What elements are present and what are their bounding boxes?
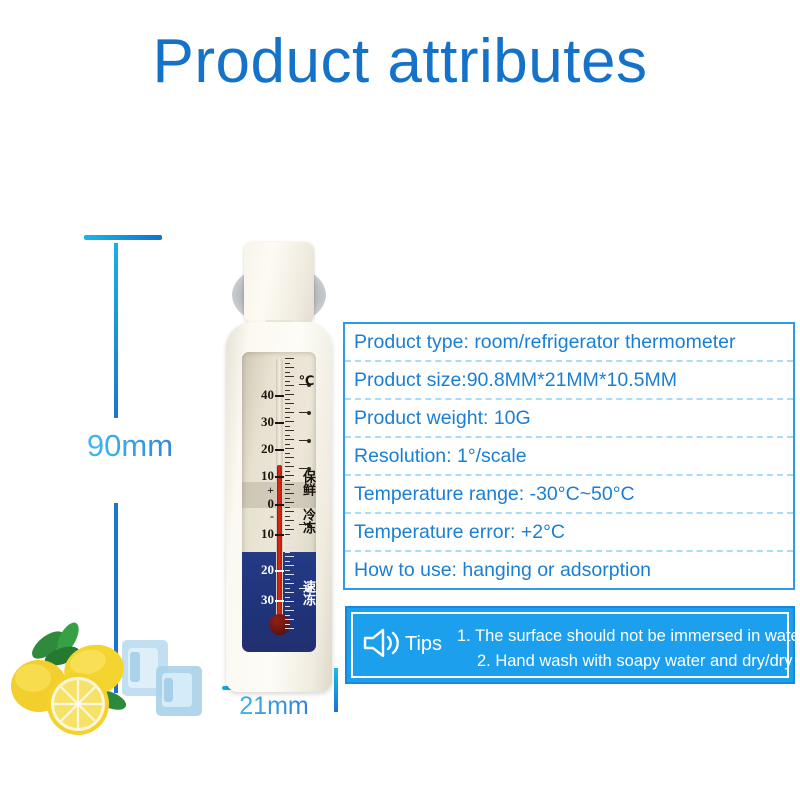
scale-major-tick <box>275 534 284 536</box>
spec-row-product-size: Product size:90.8MM*21MM*10.5MM <box>345 362 793 400</box>
scale-dot-tick-column <box>299 352 311 652</box>
spec-row-product-weight: Product weight: 10G <box>345 400 793 438</box>
scale-number: + <box>267 484 274 496</box>
zone-label-fresh: 保鲜 <box>301 470 314 496</box>
scale-major-tick <box>275 570 284 572</box>
ice-cubes <box>122 640 202 716</box>
spec-row-how-to-use: How to use: hanging or adsorption <box>345 552 793 588</box>
lemon-ice-decoration <box>4 608 216 738</box>
scale-number-column: 40302010+0-102030 <box>244 352 274 652</box>
scale-ruler-ticks <box>285 358 296 630</box>
height-dimension-label: 90mm <box>62 428 198 464</box>
zone-label-frozen: 冷冻 <box>301 508 314 534</box>
infographic-page: Product attributes 90mm 21mm 4 <box>0 0 800 800</box>
tips-box: Tips 1. The surface should not be immers… <box>345 606 795 684</box>
scale-major-tick <box>275 422 284 424</box>
tips-inner-frame: Tips 1. The surface should not be immers… <box>351 612 789 678</box>
tips-line-2: 2. Hand wash with soapy water and dry/dr… <box>477 652 800 671</box>
scale-number: 10 <box>261 469 274 482</box>
scale-major-tick <box>275 395 284 397</box>
lemon-half <box>47 673 109 735</box>
scale-number: 30 <box>261 593 274 606</box>
product-thermometer-image: 40302010+0-102030 ℃ 保鲜 冷冻 速冻 <box>218 236 340 698</box>
specification-list: Product type: room/refrigerator thermome… <box>343 322 795 590</box>
scale-number: 40 <box>261 388 274 401</box>
zone-label-quickfreeze: 速冻 <box>301 580 314 606</box>
scale-number: 10 <box>261 527 274 540</box>
scale-major-tick <box>275 600 284 602</box>
page-title: Product attributes <box>0 26 800 97</box>
thermometer-scale-face: 40302010+0-102030 ℃ 保鲜 冷冻 速冻 <box>242 352 316 652</box>
scale-number: 20 <box>261 563 274 576</box>
degree-celsius-symbol: ℃ <box>300 374 313 389</box>
dimension-line-upper <box>114 243 118 418</box>
scale-major-tick <box>275 449 284 451</box>
spec-row-temperature-error: Temperature error: +2°C <box>345 514 793 552</box>
scale-number: - <box>270 510 274 522</box>
scale-number: 20 <box>261 442 274 455</box>
scale-major-tick <box>275 476 284 478</box>
spec-row-temperature-range: Temperature range: -30°C~50°C <box>345 476 793 514</box>
spec-row-product-type: Product type: room/refrigerator thermome… <box>345 324 793 362</box>
hanging-clip <box>244 242 314 322</box>
speaker-icon <box>362 628 404 658</box>
dimension-cap-line <box>84 235 162 240</box>
tips-label: Tips <box>405 633 442 656</box>
spec-row-resolution: Resolution: 1°/scale <box>345 438 793 476</box>
scale-number: 30 <box>261 415 274 428</box>
tips-line-1: 1. The surface should not be immersed in… <box>457 627 800 646</box>
thermometer-body: 40302010+0-102030 ℃ 保鲜 冷冻 速冻 <box>226 322 332 692</box>
scale-major-tick <box>275 504 284 506</box>
